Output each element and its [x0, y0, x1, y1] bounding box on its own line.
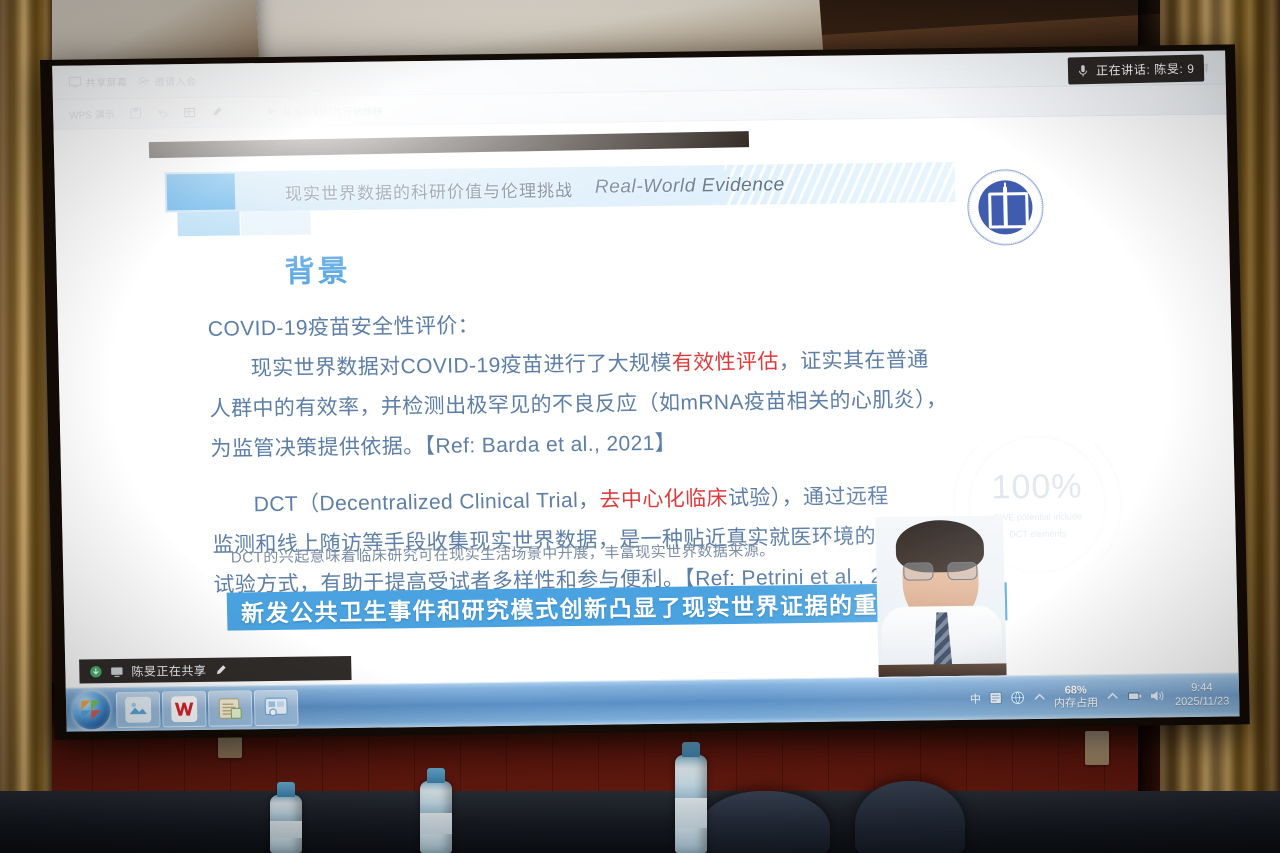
- taskbar-clock[interactable]: 9:44 2025/11/23: [1171, 682, 1230, 709]
- bottle-cap: [277, 782, 295, 797]
- play-icon: [265, 105, 278, 118]
- undo-icon[interactable]: [156, 106, 169, 119]
- water-bottle: [270, 795, 302, 853]
- bottle-label: [420, 813, 452, 835]
- watermark-caption-1: RWE potential include: [993, 510, 1082, 525]
- screen-share-status-bar[interactable]: 陈旻正在共享: [79, 656, 352, 684]
- bottle-cap: [682, 742, 700, 757]
- wps-slideshow-status[interactable]: 从当前幻灯片开始放映: [265, 103, 383, 120]
- taskbar-button-meeting[interactable]: [254, 689, 299, 726]
- memory-percent: 68%: [1054, 684, 1098, 697]
- slide-title-cn: 现实世界数据的科研价值与伦理挑战: [285, 176, 574, 205]
- p1-line1-a: 现实世界数据对COVID-19疫苗进行了大规模: [251, 352, 673, 381]
- document-window-icon: [217, 695, 244, 721]
- meeting-toolbar-item[interactable]: 共享屏幕: [68, 74, 127, 90]
- wall-outlet: [1085, 731, 1109, 765]
- microphone-icon: [1077, 64, 1089, 78]
- windows-start-orb-icon[interactable]: [72, 691, 111, 729]
- screen-surface: 共享屏幕 邀请入会 设置 全屏: [52, 50, 1239, 731]
- p2-line1-a: DCT（Decentralized Clinical Trial，: [254, 489, 600, 517]
- p2-line1-b: 试验），通过远程: [728, 485, 889, 510]
- bottle-cap: [427, 768, 445, 783]
- network-globe-icon[interactable]: [1010, 690, 1025, 705]
- table-icon[interactable]: [183, 106, 196, 119]
- conference-table: [0, 791, 1280, 853]
- share-arrow-icon: [89, 665, 102, 678]
- clock-date: 2025/11/23: [1175, 695, 1230, 709]
- wps-status-label: 从当前幻灯片开始放映: [283, 103, 383, 119]
- paragraph1-line1: 现实世界数据对COVID-19疫苗进行了大规模有效性评估，证实其在普通: [208, 341, 1099, 387]
- watermark-value: 100%: [991, 467, 1083, 507]
- watermark-caption-2: DCT elements: [1009, 528, 1067, 542]
- seal-emblem: [978, 180, 1033, 235]
- paragraph1-lead: COVID-19疫苗安全性评价：: [208, 301, 1099, 347]
- memory-usage-indicator[interactable]: 68% 内存占用: [1054, 684, 1099, 710]
- ime-indicator[interactable]: 中: [970, 690, 981, 706]
- chevron-up-icon[interactable]: [1105, 689, 1120, 704]
- invite-icon: [137, 75, 150, 88]
- meeting-toolbar-label: 邀请入会: [154, 73, 196, 89]
- p1-line1-b: ，证实其在普通: [779, 348, 929, 373]
- taskbar-button-document[interactable]: [208, 690, 253, 727]
- wps-logo-text: WPS 演示: [69, 106, 115, 122]
- slide-deco-square-secondary: [177, 211, 240, 236]
- section-heading: 背景: [284, 246, 351, 291]
- water-bottle: [420, 781, 452, 853]
- volume-icon[interactable]: [1149, 688, 1164, 703]
- battery-icon[interactable]: [1127, 689, 1142, 704]
- university-seal-logo: [967, 169, 1045, 246]
- p1-highlight: 有效性评估: [672, 350, 779, 374]
- pencil-icon[interactable]: [214, 663, 227, 676]
- pip-glasses: [902, 562, 978, 581]
- bottle-label: [675, 798, 707, 827]
- bottle-label: [270, 821, 302, 838]
- save-icon[interactable]: [129, 107, 142, 120]
- paragraph1-line2: 人群中的有效率，并检测出极罕见的不良反应（如mRNA疫苗相关的心肌炎），: [209, 381, 1100, 427]
- memory-label: 内存占用: [1054, 697, 1098, 710]
- share-screen-icon: [68, 75, 81, 88]
- speaking-indicator-text: 正在讲话: 陈旻: 9: [1096, 60, 1195, 79]
- speaker-video-overlay[interactable]: [875, 515, 1006, 677]
- screen-frame: 共享屏幕 邀请入会 设置 全屏: [40, 44, 1250, 739]
- water-bottle: [675, 755, 707, 853]
- brush-icon[interactable]: [210, 106, 223, 119]
- chair: [700, 791, 830, 853]
- system-tray[interactable]: 中 68% 内存占用 9:44 2025/11/23: [970, 682, 1236, 712]
- clock-time: 9:44: [1175, 682, 1230, 696]
- speaking-indicator: 正在讲话: 陈旻: 9: [1068, 54, 1204, 84]
- wps-office-icon: [171, 695, 198, 721]
- taskbar-button-wps[interactable]: [162, 690, 207, 727]
- chevron-up-icon[interactable]: [1032, 690, 1047, 705]
- p2-highlight: 去中心化临床: [599, 487, 728, 512]
- slide-deco-square-primary: [167, 173, 236, 210]
- notepad-icon[interactable]: [988, 690, 1003, 705]
- slide-canvas: 现实世界数据的科研价值与伦理挑战 Real-World Evidence 背景 …: [54, 114, 1239, 687]
- slide-deco-square-tertiary: [240, 210, 311, 235]
- taskbar-button-cloud[interactable]: [116, 691, 161, 728]
- meeting-toolbar-item[interactable]: 邀请入会: [137, 73, 196, 89]
- projection-screen: 共享屏幕 邀请入会 设置 全屏: [40, 44, 1250, 739]
- slide-top-dark-bar: [149, 131, 749, 158]
- slide-title-en: Real-World Evidence: [595, 174, 785, 198]
- meeting-toolbar-label: 共享屏幕: [85, 74, 127, 90]
- share-status-text: 陈旻正在共享: [131, 661, 206, 679]
- meeting-app-icon: [263, 694, 290, 720]
- screen-icon: [110, 664, 123, 677]
- cloud-app-icon: [125, 696, 152, 722]
